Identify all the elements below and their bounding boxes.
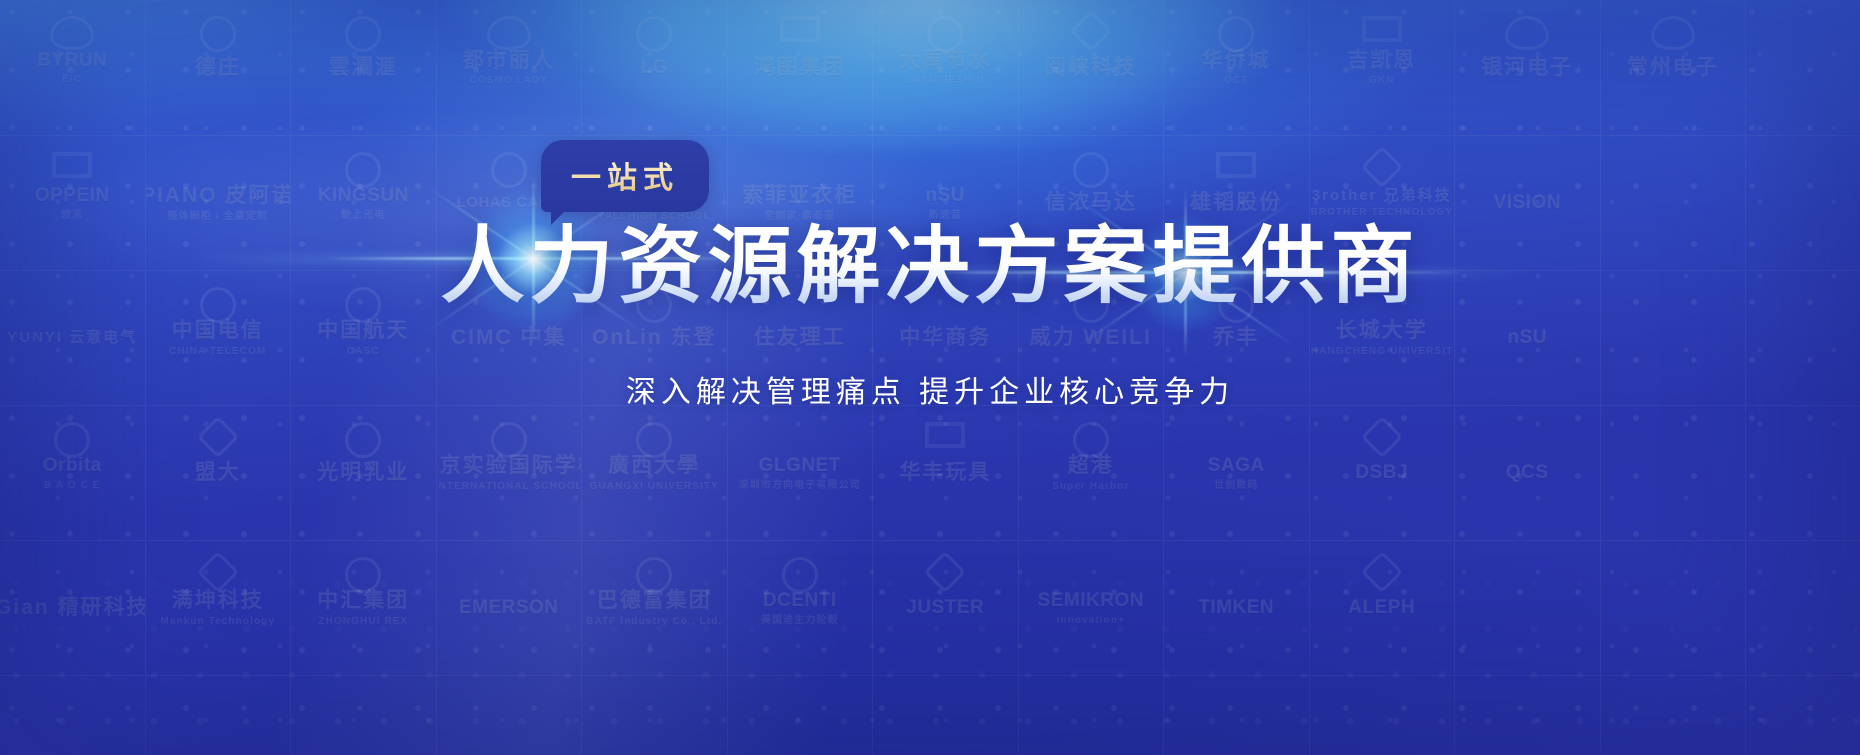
hero-content: 一站式 人力资源解决方案提供商 深入解决管理痛点 提升企业核心竞争力 [0,140,1860,441]
hero-subtitle: 深入解决管理痛点 提升企业核心竞争力 [0,367,1860,411]
hero-badge-wrapper: 一站式 [541,140,709,212]
hero-badge: 一站式 [541,140,709,212]
dot-texture-bottom [0,475,1860,755]
hero-badge-label: 一站式 [571,162,679,195]
hero-title: 人力资源解决方案提供商 [0,222,1860,311]
hero-banner: BYRUNEIC德庄雲瀾滙都市丽人COSMO LADYLG鸿图集团大禹节水DAY… [0,0,1860,755]
